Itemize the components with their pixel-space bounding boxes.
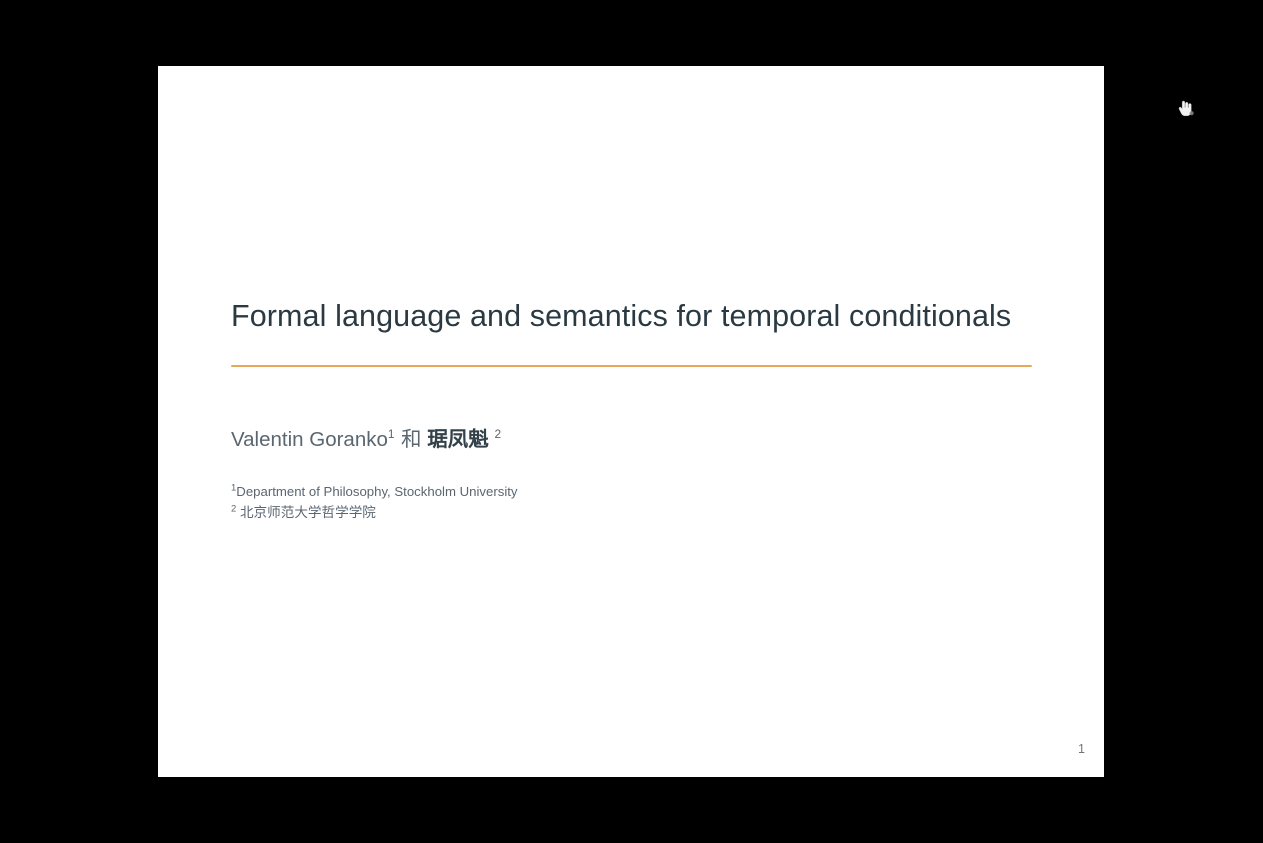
authors-line: Valentin Goranko1 和 琚凤魁 2 (231, 426, 1033, 454)
author-1-affiliation-mark: 1 (388, 427, 395, 441)
page-title: Formal language and semantics for tempor… (231, 298, 1033, 335)
affiliation-2-text: 北京师范大学哲学学院 (240, 505, 376, 521)
page-number: 1 (1078, 742, 1085, 756)
affiliation-1-text: Department of Philosophy, Stockholm Univ… (236, 484, 517, 499)
pointing-hand-cursor-icon (1176, 99, 1196, 119)
affiliation-2: 2 北京师范大学哲学学院 (231, 502, 1033, 524)
author-1-name: Valentin Goranko (231, 428, 388, 451)
authors-block: Valentin Goranko1 和 琚凤魁 2 (231, 426, 1033, 454)
author-2-name: 琚凤魁 (427, 427, 489, 451)
title-block: Formal language and semantics for tempor… (231, 298, 1033, 367)
authors-conjunction-word: 和 (401, 427, 422, 451)
affiliations-block: 1Department of Philosophy, Stockholm Uni… (231, 481, 1033, 524)
title-divider-rule (231, 365, 1032, 368)
slide-page[interactable]: Formal language and semantics for tempor… (158, 66, 1104, 777)
slide-viewer[interactable]: Formal language and semantics for tempor… (0, 0, 1263, 843)
author-2-affiliation-mark: 2 (494, 427, 501, 441)
affiliation-1: 1Department of Philosophy, Stockholm Uni… (231, 481, 1033, 502)
